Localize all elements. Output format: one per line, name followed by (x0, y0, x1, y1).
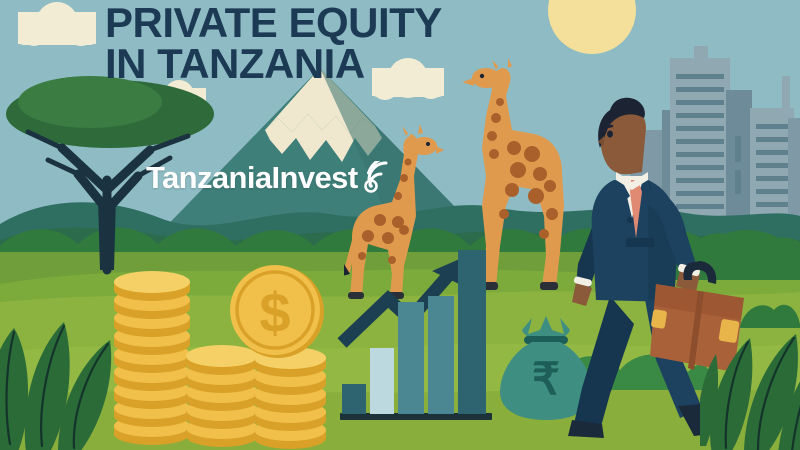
brand-logo[interactable]: TanzaniaInvest (146, 160, 394, 196)
title-line-1: PRIVATE EQUITY (105, 0, 442, 46)
chart-bar-4 (428, 296, 454, 414)
bar-chart (348, 255, 483, 420)
chart-bar-2 (370, 348, 394, 414)
brand-logo-text: TanzaniaInvest (146, 160, 358, 196)
chart-bar-5 (458, 250, 486, 414)
chart-bar-1 (342, 384, 366, 414)
dollar-symbol: $ (259, 281, 290, 344)
title-line-2: IN TANZANIA (105, 43, 665, 84)
dollar-coin: $ (228, 262, 328, 362)
chart-bar-3 (398, 302, 424, 414)
wifi-signal-icon (360, 161, 394, 195)
cloud-icon-1 (18, 12, 96, 44)
foreground-leaves-right (700, 296, 800, 450)
chart-baseline (340, 413, 492, 420)
poster-canvas: ₹ $ (0, 0, 800, 450)
foreground-leaves-left (0, 292, 134, 450)
page-title: PRIVATE EQUITY IN TANZANIA (105, 2, 665, 84)
